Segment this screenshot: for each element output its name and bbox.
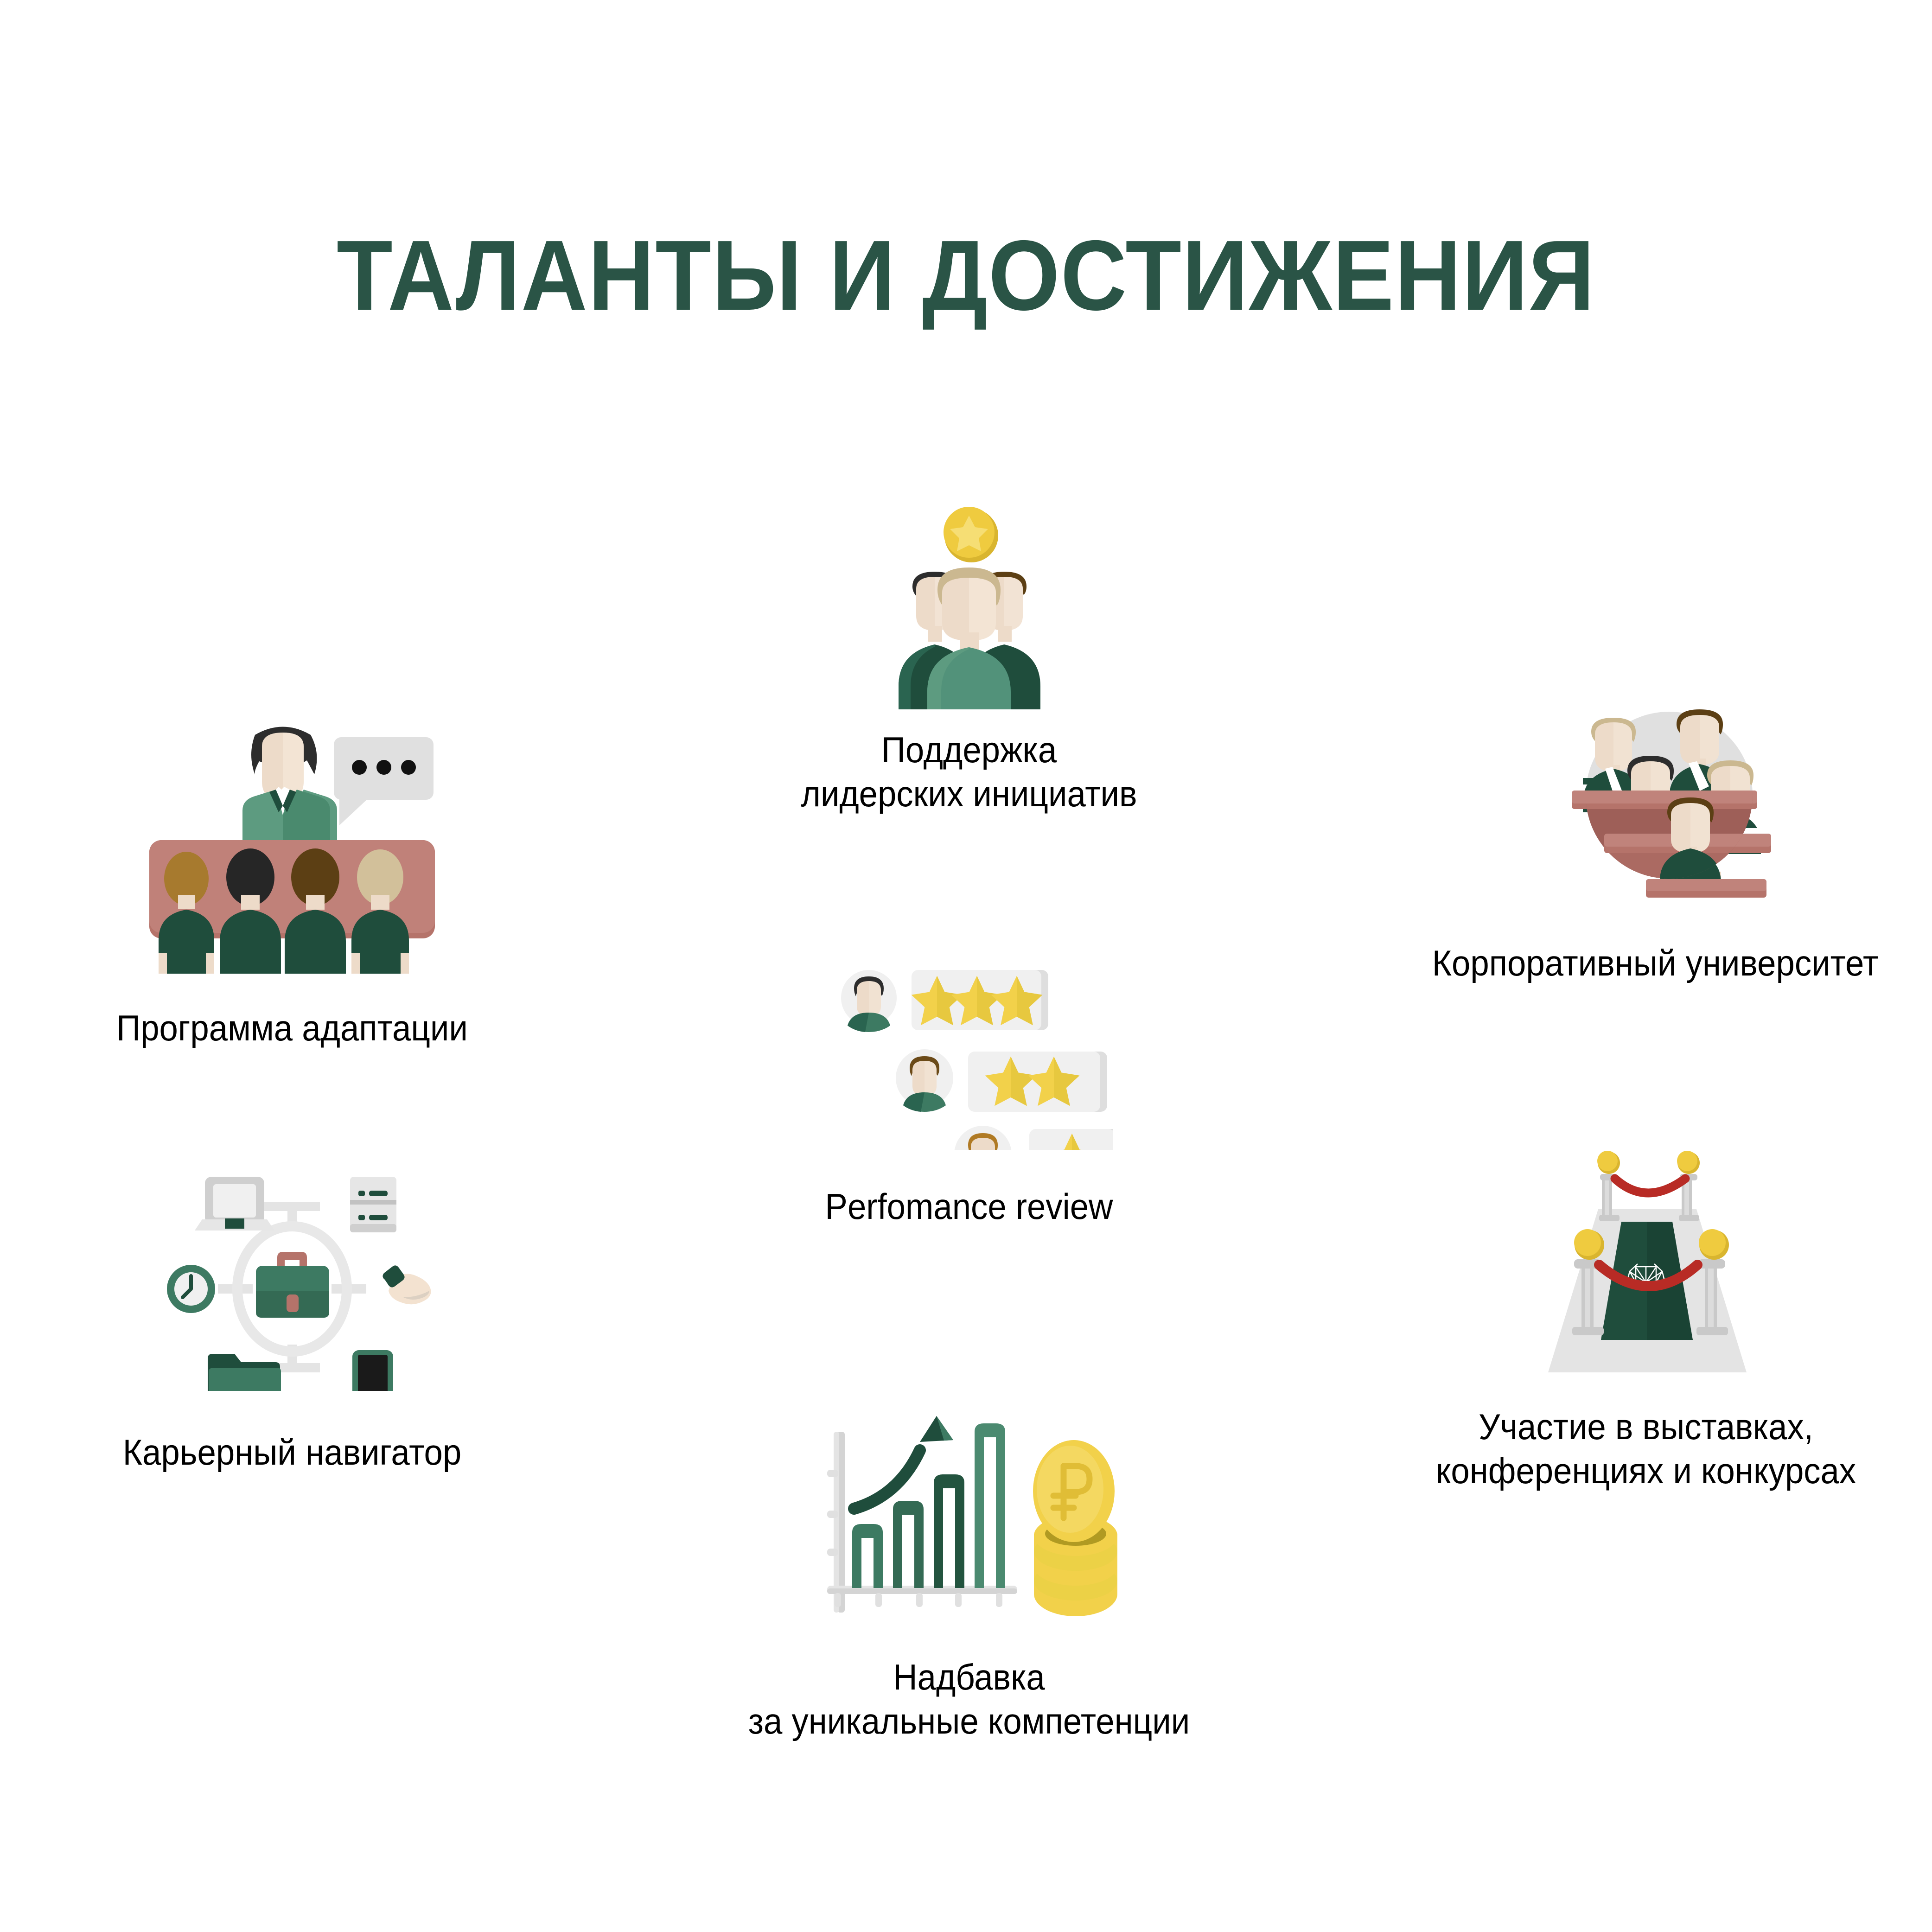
review-row-3 bbox=[954, 1126, 1113, 1150]
server-icon bbox=[350, 1177, 396, 1232]
item-review: Perfomance review bbox=[691, 955, 1247, 1229]
briefcase-icon bbox=[256, 1252, 329, 1318]
item-onboarding: Программа адаптации bbox=[28, 695, 556, 1050]
item-bonus: Надбавка за уникальные компетенции bbox=[663, 1409, 1275, 1743]
smartphone-icon bbox=[352, 1350, 393, 1391]
item-exhibitions: Участие в выставках, конференциях и конк… bbox=[1372, 1145, 1919, 1493]
item-leadership-label: Поддержка лидерских инициатив bbox=[710, 728, 1228, 816]
avatar bbox=[954, 1126, 1012, 1150]
avatar bbox=[896, 1049, 953, 1112]
speech-bubble-icon bbox=[334, 737, 434, 825]
review-row-1 bbox=[841, 970, 1048, 1032]
red-carpet-stanchions-icon bbox=[1542, 1145, 1750, 1377]
folder-icon bbox=[208, 1354, 281, 1391]
item-university: Корпоративный университет bbox=[1382, 695, 1929, 985]
career-network-briefcase-icon bbox=[153, 1150, 431, 1391]
item-bonus-label: Надбавка за уникальные компетенции bbox=[684, 1655, 1254, 1743]
star-medal-icon bbox=[944, 507, 998, 562]
team-with-star-medal-icon bbox=[858, 491, 1080, 709]
item-review-label: Perfomance review bbox=[710, 1185, 1228, 1229]
avatar bbox=[841, 970, 897, 1032]
item-career: Карьерный навигатор bbox=[28, 1150, 556, 1474]
rope-back bbox=[1615, 1179, 1685, 1193]
star-rating-rows-icon bbox=[825, 955, 1113, 1150]
item-university-label: Корпоративный университет bbox=[1401, 941, 1909, 985]
clock-icon bbox=[167, 1265, 215, 1313]
page-title: ТАЛАНТЫ И ДОСТИЖЕНИЯ bbox=[77, 218, 1855, 333]
item-exhibitions-label: Участие в выставках, конференциях и конк… bbox=[1391, 1405, 1900, 1493]
handshake-icon bbox=[383, 1265, 431, 1304]
item-leadership: Поддержка лидерских инициатив bbox=[691, 491, 1247, 816]
presentation-audience-icon bbox=[130, 695, 454, 974]
lecture-hall-icon bbox=[1535, 695, 1776, 904]
item-career-label: Карьерный навигатор bbox=[46, 1430, 538, 1474]
ruble-coin-stack bbox=[1033, 1440, 1117, 1616]
review-row-2 bbox=[896, 1049, 1107, 1112]
laptop-icon bbox=[195, 1177, 274, 1231]
item-onboarding-label: Программа адаптации bbox=[46, 1006, 538, 1050]
growth-chart-coins-icon bbox=[816, 1409, 1122, 1632]
